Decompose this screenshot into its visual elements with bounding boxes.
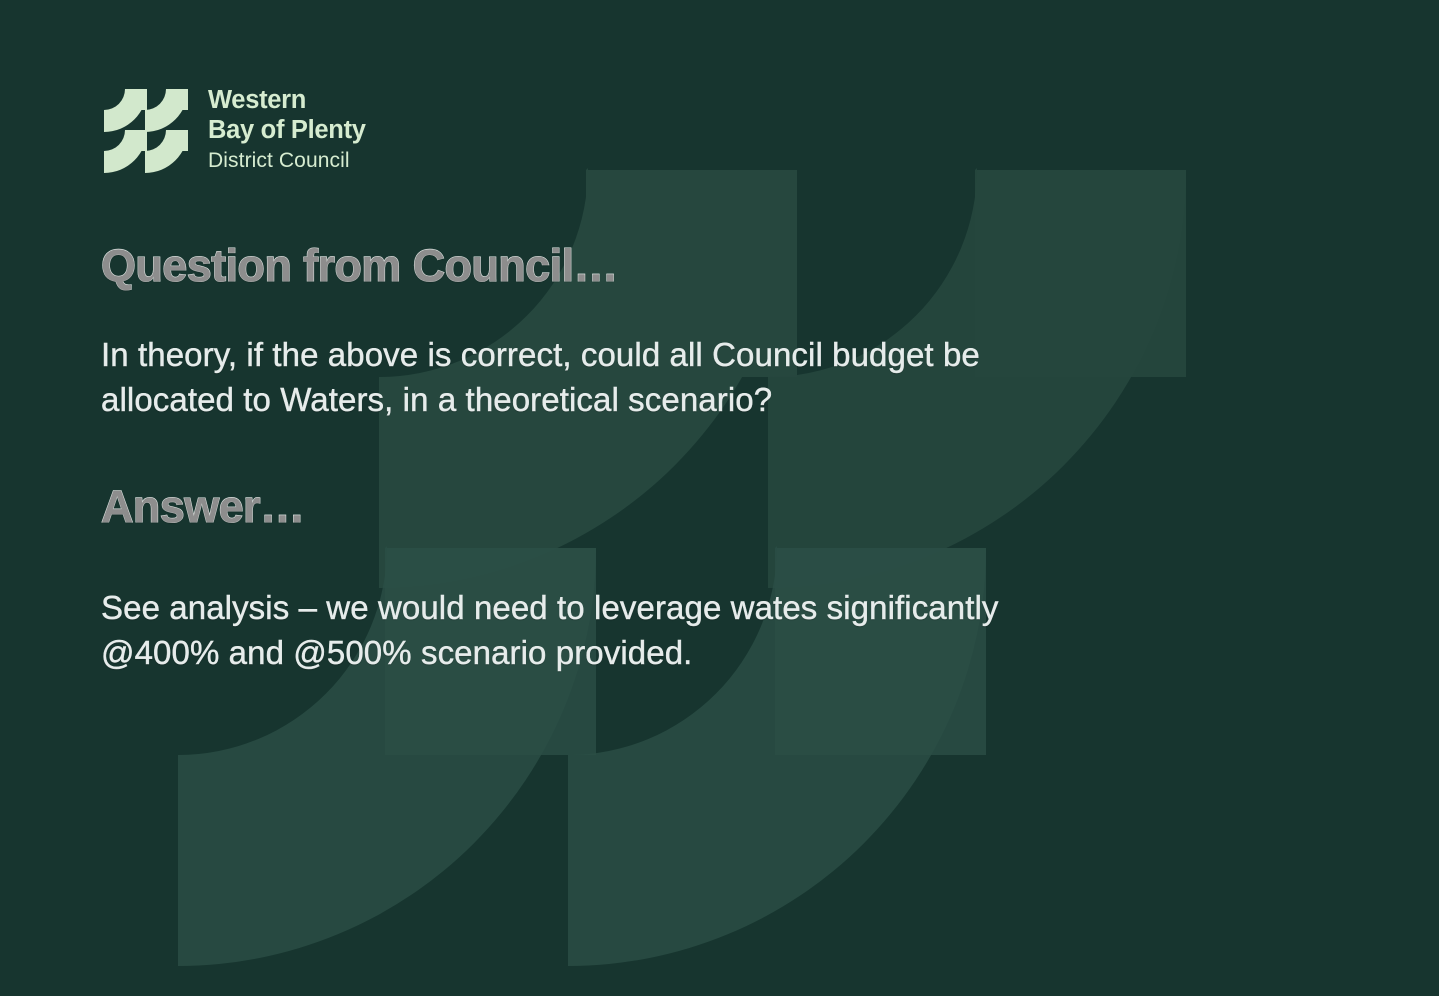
answer-body-line-1: See analysis – we would need to leverage… [101,585,1311,631]
council-logo: Western Bay of Plenty District Council [101,84,366,177]
question-heading: Question from Council… [101,240,1311,292]
logo-line-western: Western [208,86,366,116]
answer-heading: Answer… [101,481,1311,533]
answer-body: See analysis – we would need to leverage… [101,585,1311,676]
answer-body-line-2: @400% and @500% scenario provided. [101,630,1311,676]
logo-line-district-council: District Council [208,145,366,177]
spacer-question [101,292,1311,332]
logo-wordmark: Western Bay of Plenty District Council [208,84,366,177]
slide-canvas: Western Bay of Plenty District Council Q… [0,0,1439,996]
question-body-line-1: In theory, if the above is correct, coul… [101,332,1311,378]
question-body: In theory, if the above is correct, coul… [101,332,1311,423]
slide-content: Question from Council… In theory, if the… [101,240,1311,676]
spacer-before-answer [101,423,1311,481]
spacer-answer [101,533,1311,585]
double-chevron-arc-logo-icon [101,86,194,174]
question-body-line-2: allocated to Waters, in a theoretical sc… [101,377,1311,423]
logo-line-bay-of-plenty: Bay of Plenty [208,116,366,146]
